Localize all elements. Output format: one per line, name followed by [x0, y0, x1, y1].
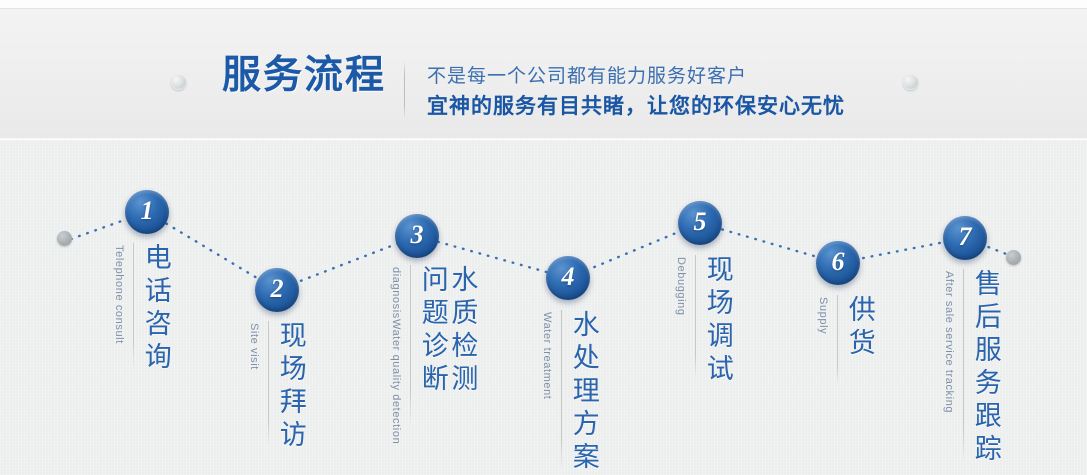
label-rule-1 [133, 243, 134, 368]
process-flow: 1 2 3 4 5 6 7 Telephone consult 电话咨询 [0, 138, 1087, 475]
label-rule-7 [963, 269, 964, 465]
step-number-4: 4 [562, 264, 575, 290]
step-label-4: Water treatment 水处理方案 [538, 310, 598, 470]
step-node-2[interactable]: 2 [255, 268, 299, 312]
step-label-3-en-line1: Water quality detection [387, 319, 404, 444]
step-node-6[interactable]: 6 [816, 241, 860, 285]
path-endpoint-right [1006, 250, 1021, 265]
title-divider [404, 61, 405, 119]
step-label-2-en: Site visit [245, 321, 262, 370]
step-node-4[interactable]: 4 [546, 256, 590, 300]
step-label-3: Water quality detection diagnosis 问题诊断 水… [387, 265, 476, 425]
label-rule-4 [561, 310, 562, 470]
step-label-1-cn: 电话咨询 [140, 243, 170, 375]
step-label-3-cn-group: 问题诊断 水质检测 [417, 265, 476, 397]
screw-icon-right [903, 75, 918, 90]
subtitle-line-1: 不是每一个公司都有能力服务好客户 [427, 64, 845, 90]
step-label-3-cn-col1: 水质检测 [447, 265, 477, 397]
header-panel: 服务流程 不是每一个公司都有能力服务好客户 宜神的服务有目共睹，让您的环保安心无… [0, 9, 1087, 139]
screw-icon-left [171, 75, 186, 90]
step-number-5: 5 [694, 209, 707, 235]
step-number-2: 2 [271, 276, 284, 302]
step-label-5-en: Debugging [672, 255, 689, 316]
step-label-7-en: After sale service tracking [940, 269, 957, 413]
label-rule-6 [837, 295, 838, 385]
step-label-4-en: Water treatment [538, 310, 555, 399]
step-label-2: Site visit 现场拜访 [245, 321, 305, 446]
step-label-1: Telephone consult 电话咨询 [110, 243, 170, 368]
step-label-7-cn-group: 售后服务跟踪 [970, 269, 1000, 467]
subtitle-line-2: 宜神的服务有目共睹，让您的环保安心无忧 [427, 92, 845, 120]
step-label-6-en: Supply [814, 295, 831, 334]
label-rule-2 [268, 321, 269, 446]
step-label-3-en: Water quality detection diagnosis [387, 265, 404, 444]
step-label-1-cn-group: 电话咨询 [140, 243, 170, 375]
step-label-6-cn: 供货 [844, 295, 874, 361]
step-label-1-en: Telephone consult [110, 243, 127, 344]
subtitle-block: 不是每一个公司都有能力服务好客户 宜神的服务有目共睹，让您的环保安心无忧 [427, 64, 845, 120]
step-label-3-cn-col2: 问题诊断 [417, 265, 447, 397]
step-label-7: After sale service tracking 售后服务跟踪 [940, 269, 1000, 465]
page-title: 服务流程 [222, 56, 386, 95]
step-label-3-en-line2: diagnosis [387, 267, 404, 319]
step-node-3[interactable]: 3 [395, 214, 439, 258]
step-label-5-cn-group: 现场调试 [702, 255, 732, 387]
step-label-2-cn: 现场拜访 [275, 321, 305, 453]
step-label-6-cn-group: 供货 [844, 295, 874, 361]
step-number-7: 7 [959, 224, 972, 250]
step-node-7[interactable]: 7 [943, 216, 987, 260]
step-label-4-cn-group: 水处理方案 [568, 310, 598, 475]
step-number-3: 3 [411, 222, 424, 248]
step-label-6: Supply 供货 [814, 295, 874, 385]
step-label-7-cn: 售后服务跟踪 [970, 269, 1000, 467]
top-strip [0, 0, 1087, 9]
path-endpoint-left [57, 231, 72, 246]
step-number-1: 1 [141, 198, 154, 224]
step-number-6: 6 [832, 249, 845, 275]
step-node-1[interactable]: 1 [125, 190, 169, 234]
service-process-banner: 服务流程 不是每一个公司都有能力服务好客户 宜神的服务有目共睹，让您的环保安心无… [0, 0, 1087, 475]
step-label-5-cn: 现场调试 [702, 255, 732, 387]
step-label-2-cn-group: 现场拜访 [275, 321, 305, 453]
step-label-5: Debugging 现场调试 [672, 255, 732, 380]
label-rule-5 [695, 255, 696, 380]
step-node-5[interactable]: 5 [678, 201, 722, 245]
label-rule-3 [410, 265, 411, 425]
step-label-4-cn: 水处理方案 [568, 310, 598, 475]
